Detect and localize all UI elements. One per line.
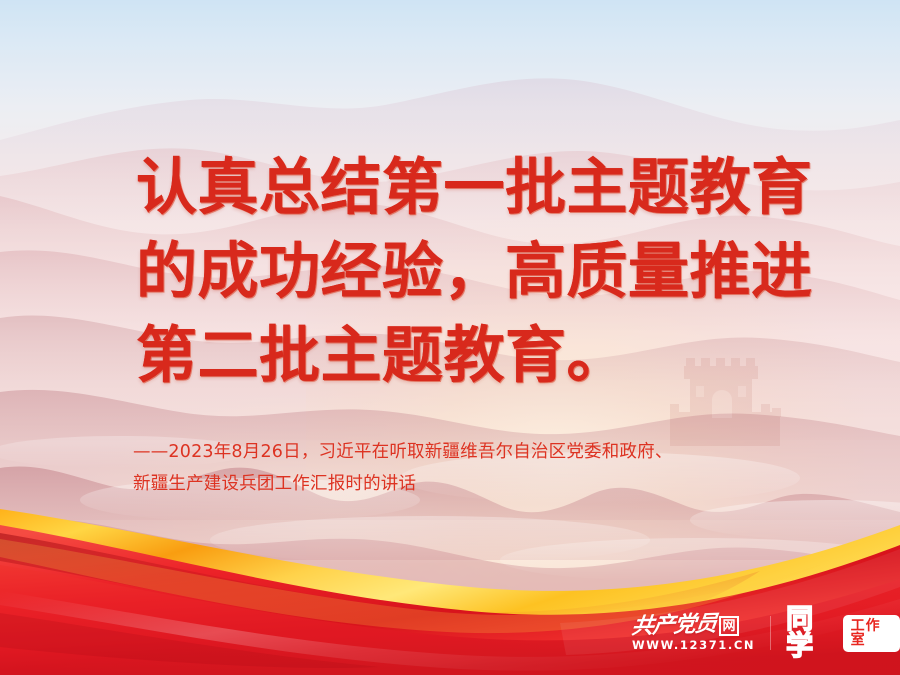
headline-line-2: 的成功经验，高质量推进 <box>136 230 836 314</box>
logo-divider <box>770 616 771 650</box>
logo-cluster[interactable]: 共产党员 网 WWW.12371.CN 同学 工作室 <box>632 606 900 660</box>
headline-line-1: 认真总结第一批主题教育 <box>136 146 836 230</box>
studio-name-outline-text: 同学 <box>786 606 838 660</box>
logo-website-url[interactable]: WWW.12371.CN <box>632 640 755 652</box>
attribution-line-1: ——2023年8月26日，习近平在听取新疆维吾尔自治区党委和政府、 <box>133 436 853 468</box>
logo-12371-block[interactable]: 共产党员 网 WWW.12371.CN <box>632 614 755 652</box>
headline-line-3: 第二批主题教育。 <box>136 314 836 398</box>
attribution-line-2: 新疆生产建设兵团工作汇报时的讲话 <box>133 468 853 500</box>
communist-party-member-calligraphy: 共产党员 <box>630 613 717 638</box>
poster-canvas: 认真总结第一批主题教育 的成功经验，高质量推进 第二批主题教育。 ——2023年… <box>0 0 900 675</box>
attribution-block: ——2023年8月26日，习近平在听取新疆维吾尔自治区党委和政府、 新疆生产建设… <box>133 436 853 500</box>
logo-12371-row: 共产党员 网 <box>632 614 739 636</box>
net-char-box-icon: 网 <box>719 616 739 636</box>
studio-pill-badge: 工作室 <box>843 615 900 652</box>
headline-block: 认真总结第一批主题教育 的成功经验，高质量推进 第二批主题教育。 <box>136 146 836 398</box>
studio-logo-block[interactable]: 同学 工作室 <box>786 606 900 660</box>
